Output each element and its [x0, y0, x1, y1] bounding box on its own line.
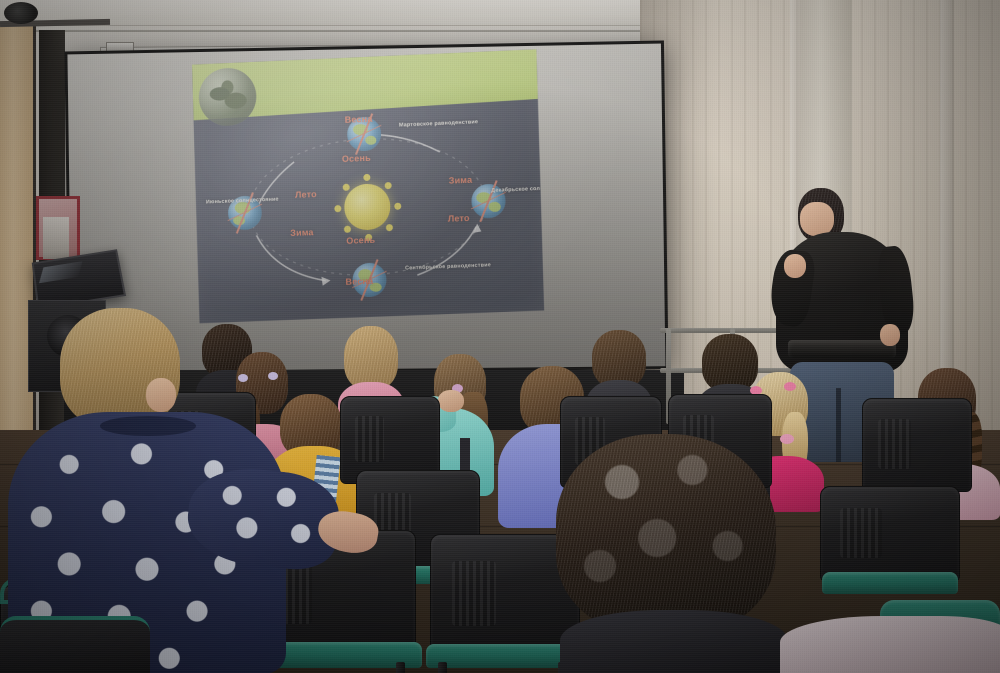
projected-slide: Весна Осень Мартовское равноденствие Лет… — [192, 49, 544, 323]
label-season-top-outer: Весна — [345, 114, 373, 125]
slide-diagram: Весна Осень Мартовское равноденствие Лет… — [193, 100, 544, 324]
door-roller-icon — [4, 2, 38, 24]
audience-person-foreground-curly — [556, 434, 788, 673]
label-season-right-outer: Зима — [449, 175, 473, 186]
label-season-top-inner: Осень — [342, 153, 371, 164]
presenter-hand-gesture — [784, 254, 806, 278]
presenter-face — [800, 202, 834, 236]
label-season-bottom-inner: Весна — [345, 276, 373, 287]
presenter-leg-gap — [836, 388, 841, 462]
label-season-right-inner: Лето — [448, 213, 470, 224]
presenter-belt — [788, 340, 896, 358]
woman-collar — [100, 416, 196, 436]
turquoise-hand — [438, 390, 464, 412]
classroom-scene: Весна Осень Мартовское равноденствие Лет… — [0, 0, 1000, 673]
label-season-left-inner: Зима — [290, 227, 314, 238]
audience-foreground-shoulder — [780, 616, 1000, 673]
orbit-diagram — [228, 117, 509, 296]
fire-equipment-box[interactable] — [36, 196, 80, 260]
label-december-solstice: Декабрьское солнцестояние — [491, 186, 536, 195]
woman-ear — [146, 378, 176, 412]
chair[interactable] — [862, 398, 972, 492]
label-season-left-outer: Лето — [295, 189, 317, 200]
chair[interactable] — [0, 616, 150, 673]
presenter-hand-right — [880, 324, 900, 346]
label-season-bottom-outer: Осень — [346, 235, 375, 246]
